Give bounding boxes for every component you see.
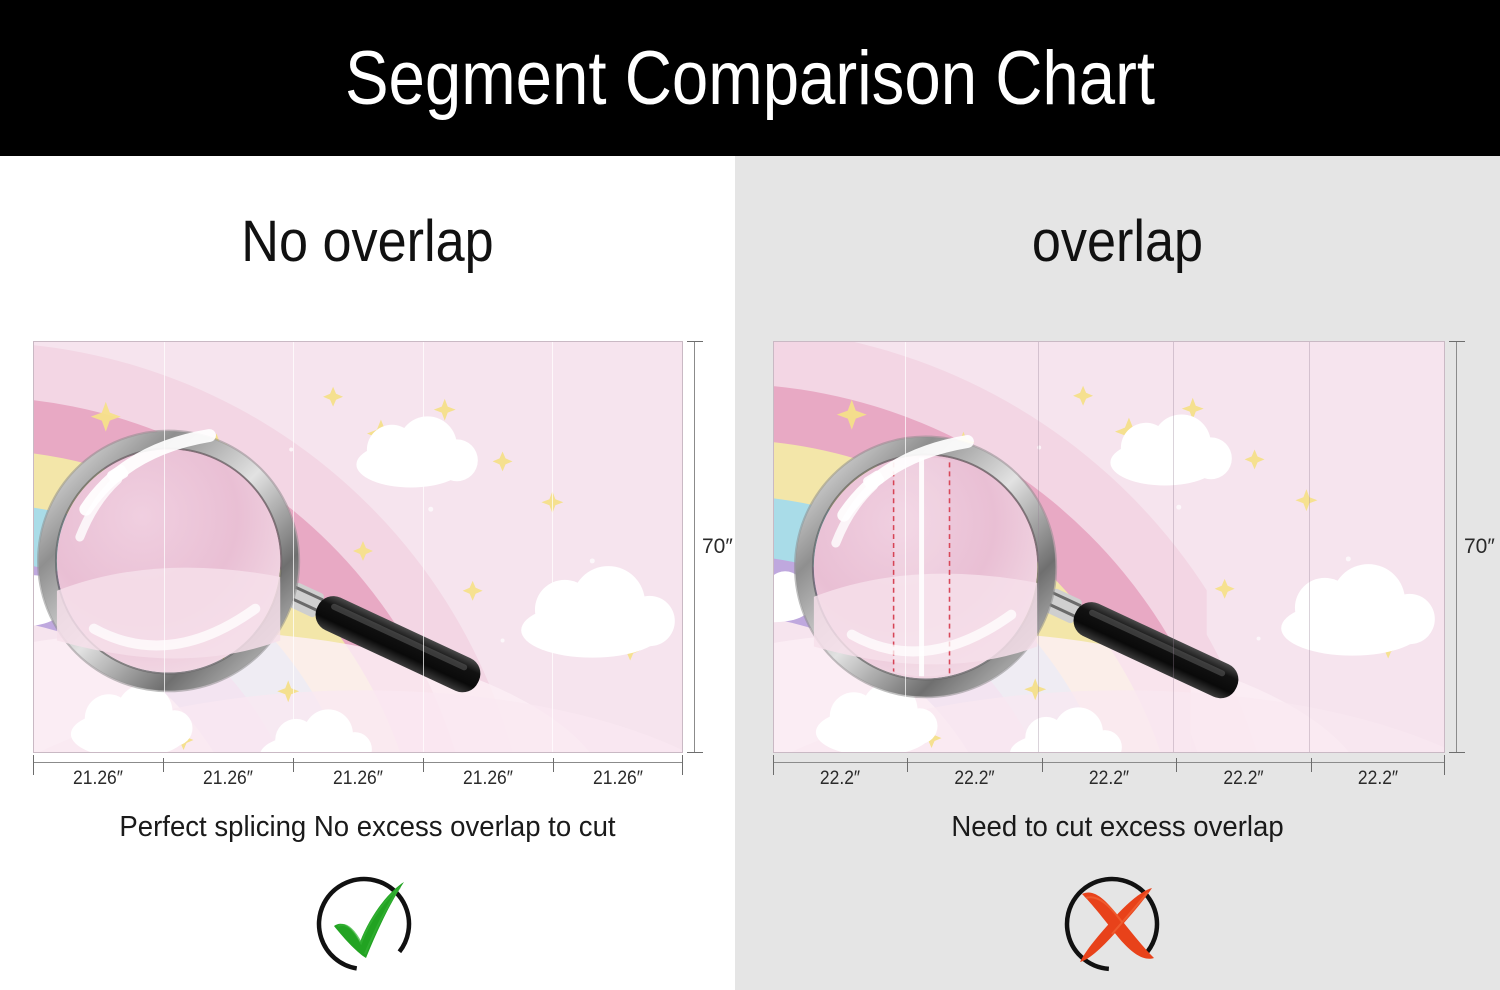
segment-label-right-5: 22.2″ — [1316, 768, 1439, 790]
width-tick-2-left — [293, 758, 294, 772]
width-endcap-end-right — [1444, 755, 1445, 775]
title-banner: Segment Comparison Chart — [0, 0, 1500, 156]
segment-label-left-3: 21.26″ — [298, 768, 418, 790]
height-dimension-line-right — [1456, 341, 1457, 753]
segment-label-right-4: 22.2″ — [1181, 768, 1305, 790]
mural-right — [773, 341, 1445, 753]
mural-left — [33, 341, 683, 753]
width-endcap-start-left — [33, 755, 34, 775]
width-dimension-line-right — [773, 762, 1445, 763]
screenshot-root: Segment Comparison Chart No overlap — [0, 0, 1500, 990]
verdict-right — [735, 864, 1500, 982]
height-dimension-line-left — [694, 341, 695, 753]
rainbow-mural-artwork-overlap — [774, 342, 1444, 752]
width-tick-1-left — [163, 758, 164, 772]
width-tick-4-right — [1311, 758, 1312, 772]
height-cap-top-right — [1449, 341, 1465, 342]
mural-left-image — [33, 341, 683, 753]
segment-label-left-5: 21.26″ — [558, 768, 678, 790]
segment-label-left-2: 21.26″ — [168, 768, 288, 790]
page-title: Segment Comparison Chart — [105, 0, 1395, 156]
panel-left-heading: No overlap — [37, 208, 699, 275]
verdict-left — [0, 864, 735, 982]
height-dimension-left: 70″ — [686, 341, 720, 753]
width-dimension-left: 21.26″ 21.26″ 21.26″ 21.26″ 21.26″ — [33, 762, 683, 788]
mural-right-image — [773, 341, 1445, 753]
segment-label-right-3: 22.2″ — [1047, 768, 1170, 790]
width-tick-3-right — [1176, 758, 1177, 772]
height-dimension-right: 70″ — [1448, 341, 1482, 753]
height-cap-top-left — [687, 341, 703, 342]
height-label-left: 70″ — [702, 535, 733, 559]
width-tick-1-right — [907, 758, 908, 772]
width-endcap-end-left — [682, 755, 683, 775]
height-label-right: 70″ — [1464, 535, 1495, 559]
segment-label-right-1: 22.2″ — [778, 768, 901, 790]
width-endcap-start-right — [773, 755, 774, 775]
height-cap-bottom-right — [1449, 752, 1465, 753]
width-tick-4-left — [553, 758, 554, 772]
height-cap-bottom-left — [687, 752, 703, 753]
panel-overlap: overlap — [735, 156, 1500, 990]
width-dimension-right: 22.2″ 22.2″ 22.2″ 22.2″ 22.2″ — [773, 762, 1445, 788]
red-cross-icon — [1058, 864, 1178, 982]
caption-right: Need to cut excess overlap — [754, 811, 1481, 844]
green-check-icon — [308, 864, 428, 982]
width-tick-2-right — [1042, 758, 1043, 772]
caption-left: Perfect splicing No excess overlap to cu… — [18, 811, 716, 844]
segment-label-left-4: 21.26″ — [428, 768, 548, 790]
width-tick-3-left — [423, 758, 424, 772]
segment-label-right-2: 22.2″ — [912, 768, 1036, 790]
panel-right-heading: overlap — [773, 208, 1462, 275]
panel-no-overlap: No overlap — [0, 156, 735, 990]
segment-label-left-1: 21.26″ — [38, 768, 158, 790]
width-dimension-line-left — [33, 762, 683, 763]
rainbow-mural-artwork — [34, 342, 682, 752]
